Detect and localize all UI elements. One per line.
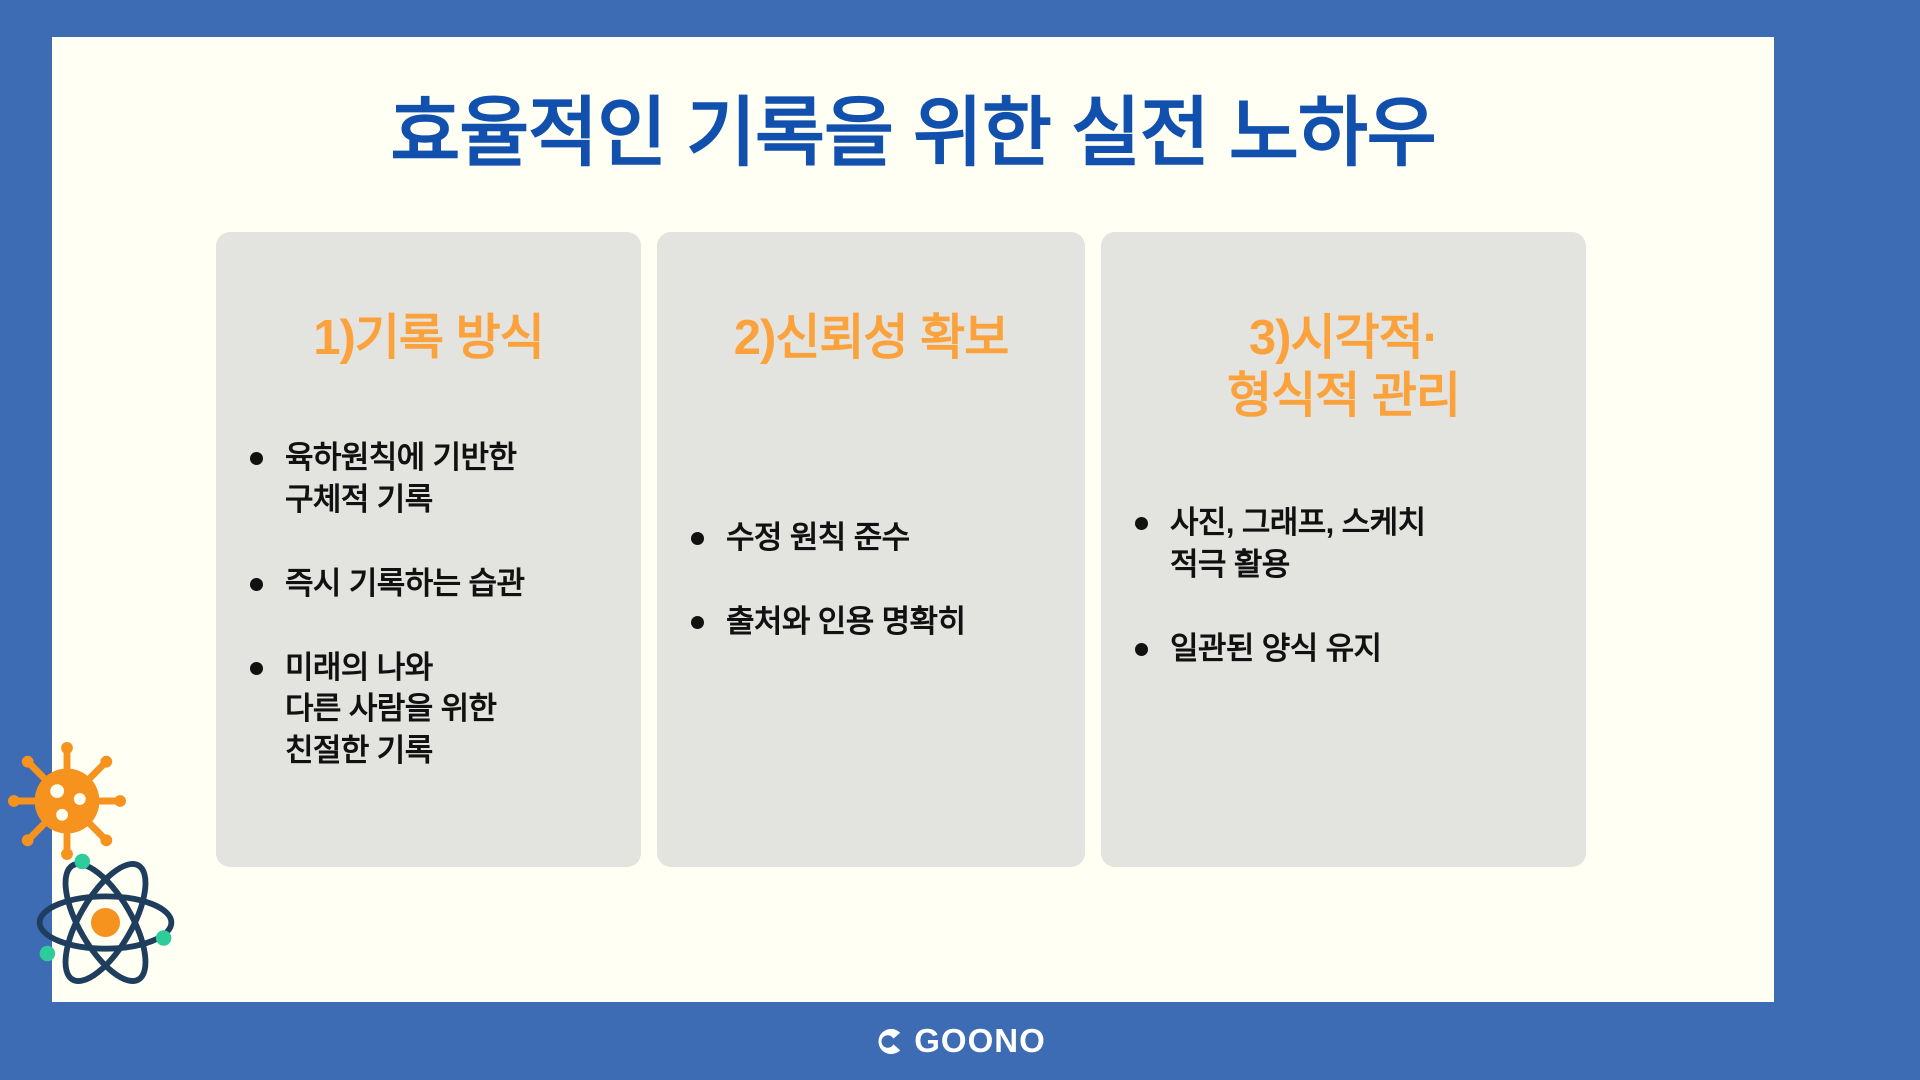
card-column-3: 3)시각적· 형식적 관리 사진, 그래프, 스케치 적극 활용 일관된 양식 … — [1101, 232, 1586, 867]
list-item-label: 즉시 기록하는 습관 — [285, 563, 524, 605]
virus-icon — [8, 742, 126, 860]
column-1-bullets: 육하원칙에 기반한 구체적 기록 즉시 기록하는 습관 미래의 나와 다른 사람… — [216, 437, 641, 772]
footer-bar: GOONO — [0, 1002, 1920, 1080]
list-item: 출처와 인용 명확히 — [691, 601, 1063, 643]
list-item: 미래의 나와 다른 사람을 위한 친절한 기록 — [250, 647, 619, 773]
list-item-label: 출처와 인용 명확히 — [726, 601, 965, 643]
bullet-dot-icon — [691, 532, 704, 545]
list-item-label: 사진, 그래프, 스케치 적극 활용 — [1170, 502, 1425, 586]
columns-container: 1)기록 방식 육하원칙에 기반한 구체적 기록 즉시 기록하는 습관 미래의 … — [216, 232, 1641, 867]
list-item-label: 미래의 나와 다른 사람을 위한 친절한 기록 — [285, 647, 496, 773]
column-3-heading: 3)시각적· 형식적 관리 — [1101, 310, 1586, 426]
list-item-label: 육하원칙에 기반한 구체적 기록 — [285, 437, 516, 521]
bullet-dot-icon — [250, 452, 263, 465]
list-item-label: 일관된 양식 유지 — [1170, 628, 1381, 670]
bullet-dot-icon — [1135, 643, 1148, 656]
column-1-heading: 1)기록 방식 — [216, 310, 641, 368]
bullet-dot-icon — [1135, 517, 1148, 530]
bullet-dot-icon — [250, 578, 263, 591]
bullet-dot-icon — [691, 616, 704, 629]
goono-logo: GOONO — [874, 1022, 1046, 1060]
list-item-label: 수정 원칙 준수 — [726, 517, 910, 559]
column-2-heading: 2)신뢰성 확보 — [657, 310, 1085, 368]
bullet-dot-icon — [250, 662, 263, 675]
column-3-bullets: 사진, 그래프, 스케치 적극 활용 일관된 양식 유지 — [1101, 502, 1586, 670]
atom-icon — [28, 845, 183, 1000]
list-item: 일관된 양식 유지 — [1135, 628, 1564, 670]
card-column-1: 1)기록 방식 육하원칙에 기반한 구체적 기록 즉시 기록하는 습관 미래의 … — [216, 232, 641, 867]
column-2-bullets: 수정 원칙 준수 출처와 인용 명확히 — [657, 517, 1085, 643]
list-item: 수정 원칙 준수 — [691, 517, 1063, 559]
card-column-2: 2)신뢰성 확보 수정 원칙 준수 출처와 인용 명확히 — [657, 232, 1085, 867]
goono-c-mark-icon — [874, 1026, 905, 1057]
list-item: 즉시 기록하는 습관 — [250, 563, 619, 605]
goono-logo-text: GOONO — [914, 1022, 1046, 1060]
page-title: 효율적인 기록을 위한 실전 노하우 — [52, 92, 1774, 176]
list-item: 사진, 그래프, 스케치 적극 활용 — [1135, 502, 1564, 586]
list-item: 육하원칙에 기반한 구체적 기록 — [250, 437, 619, 521]
slide-panel: 효율적인 기록을 위한 실전 노하우 1)기록 방식 육하원칙에 기반한 구체적… — [52, 37, 1774, 1002]
